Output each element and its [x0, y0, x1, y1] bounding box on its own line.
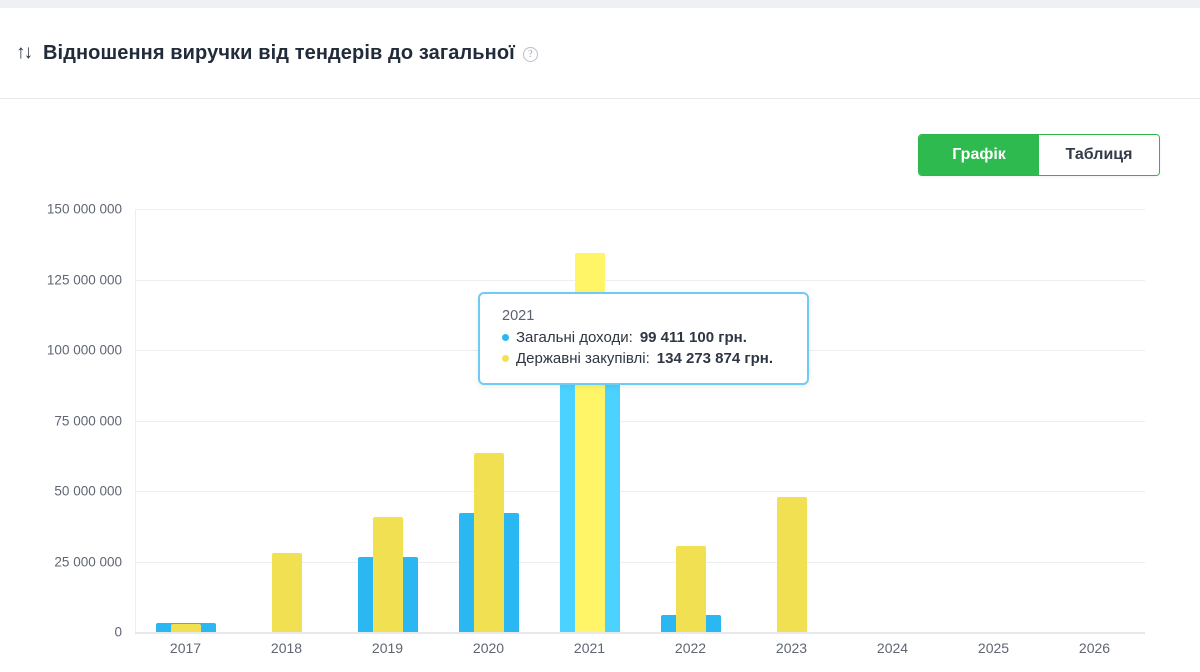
y-axis-tick-label: 0 [0, 625, 122, 640]
page-title: Відношення виручки від тендерів до загал… [43, 42, 515, 65]
y-axis-tick-label: 100 000 000 [0, 343, 122, 358]
tooltip-value: 134 273 874 грн. [657, 348, 773, 369]
bar-public-procurement-2017[interactable] [171, 624, 201, 632]
tooltip-row: Державні закупівлі: 134 273 874 грн. [502, 348, 789, 369]
bar-public-procurement-2020[interactable] [474, 453, 504, 632]
x-axis-tick-label: 2020 [438, 640, 539, 656]
x-axis-tick-label: 2022 [640, 640, 741, 656]
x-axis-tick-label: 2019 [337, 640, 438, 656]
gridline [135, 491, 1145, 492]
x-axis-tick-label: 2024 [842, 640, 943, 656]
y-axis-tick-label: 150 000 000 [0, 202, 122, 217]
gridline [135, 280, 1145, 281]
x-axis-tick-label: 2021 [539, 640, 640, 656]
bar-public-procurement-2019[interactable] [373, 517, 403, 632]
card-header: ↑↓ Відношення виручки від тендерів до за… [0, 8, 1200, 99]
tooltip-row: Загальні доходи: 99 411 100 грн. [502, 327, 789, 348]
help-icon[interactable]: ? [523, 47, 538, 62]
y-axis-tick-label: 75 000 000 [0, 413, 122, 428]
chart-area: 150 000 000125 000 000100 000 00075 000 … [0, 99, 1200, 672]
gridline [135, 209, 1145, 210]
tooltip-dot-icon [502, 355, 509, 362]
tooltip-year: 2021 [502, 308, 789, 324]
x-axis-tick-label: 2025 [943, 640, 1044, 656]
bar-public-procurement-2018[interactable] [272, 553, 302, 632]
chart-widget: ↑↓ Відношення виручки від тендерів до за… [0, 0, 1200, 672]
tooltip-label: Загальні доходи: [516, 327, 633, 348]
x-axis-tick-label: 2023 [741, 640, 842, 656]
x-axis-tick-label: 2026 [1044, 640, 1145, 656]
top-strip [0, 0, 1200, 8]
bar-public-procurement-2023[interactable] [777, 497, 807, 632]
x-axis-tick-label: 2017 [135, 640, 236, 656]
gridline [135, 421, 1145, 422]
y-axis-tick-label: 50 000 000 [0, 484, 122, 499]
y-axis-tick-label: 125 000 000 [0, 272, 122, 287]
sort-arrows-icon[interactable]: ↑↓ [16, 43, 31, 62]
x-axis-labels: 2017201820192020202120222023202420252026 [135, 632, 1145, 662]
tooltip-value: 99 411 100 грн. [640, 327, 747, 348]
y-axis-tick-label: 25 000 000 [0, 554, 122, 569]
chart-tooltip: 2021 Загальні доходи: 99 411 100 грн. Де… [478, 292, 809, 385]
tooltip-dot-icon [502, 334, 509, 341]
tooltip-label: Державні закупівлі: [516, 348, 650, 369]
bar-public-procurement-2022[interactable] [676, 546, 706, 632]
y-axis-labels: 150 000 000125 000 000100 000 00075 000 … [0, 99, 122, 529]
plot-area [135, 209, 1145, 632]
x-axis-tick-label: 2018 [236, 640, 337, 656]
